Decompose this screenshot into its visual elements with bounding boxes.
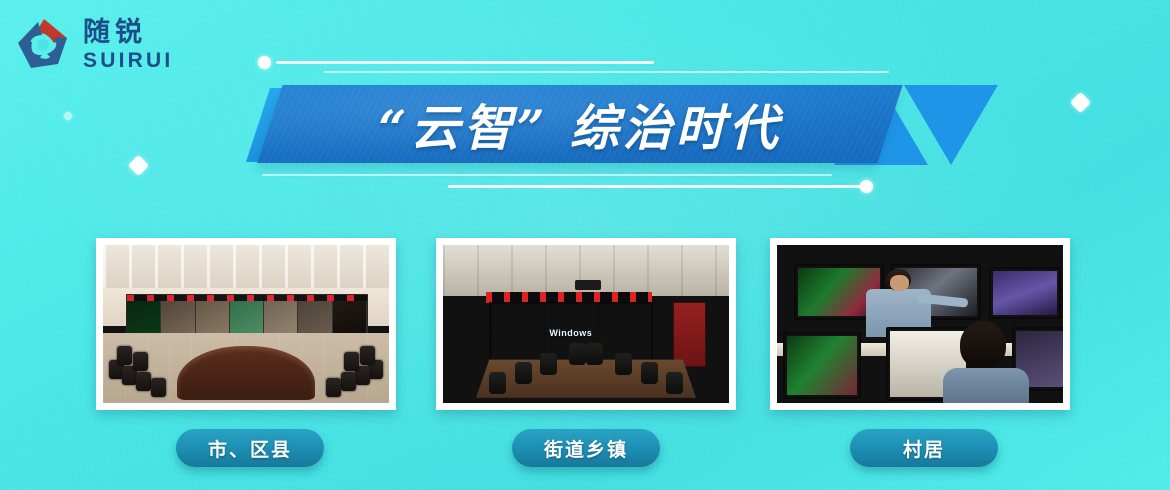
card-village[interactable] bbox=[770, 238, 1070, 410]
deco-diamond-left bbox=[128, 155, 149, 176]
banner-line-bottom-1 bbox=[262, 174, 832, 176]
card-street-township[interactable]: Windows bbox=[436, 238, 736, 410]
banner-dot-bottom-right bbox=[860, 180, 873, 193]
banner-title-text: “云智” 综治时代 bbox=[270, 85, 890, 163]
suirui-pinwheel-logo-icon bbox=[14, 16, 74, 74]
photo-meeting-room-blue-screen: Windows bbox=[443, 245, 729, 403]
screen-caption: Windows bbox=[549, 328, 592, 338]
banner-dot-top-left bbox=[258, 56, 271, 69]
card-city-district[interactable] bbox=[96, 238, 396, 410]
brand-logo[interactable]: 随锐 SUIRUI bbox=[14, 16, 173, 74]
label-village[interactable]: 村居 bbox=[850, 429, 998, 467]
banner-line-top-1 bbox=[276, 61, 654, 64]
deco-diamond-small bbox=[62, 110, 73, 121]
photo-officer-monitor-wall bbox=[777, 245, 1063, 403]
photo-command-conference-room bbox=[103, 245, 389, 403]
slide-canvas: 随锐 SUIRUI “云智” 综治时代 bbox=[0, 0, 1170, 490]
label-street-township[interactable]: 街道乡镇 bbox=[512, 429, 660, 467]
brand-name-cn: 随锐 bbox=[83, 19, 173, 46]
banner-line-top-2 bbox=[324, 71, 889, 73]
deco-diamond-right bbox=[1070, 92, 1091, 113]
title-banner: “云智” 综治时代 bbox=[252, 52, 952, 192]
brand-logo-text: 随锐 SUIRUI bbox=[83, 19, 173, 71]
banner-line-bottom-2 bbox=[448, 185, 862, 188]
brand-name-en: SUIRUI bbox=[83, 50, 173, 71]
banner-triangle-down bbox=[904, 85, 998, 165]
card-row: Windows bbox=[0, 238, 1170, 418]
label-city-district[interactable]: 市、区县 bbox=[176, 429, 324, 467]
